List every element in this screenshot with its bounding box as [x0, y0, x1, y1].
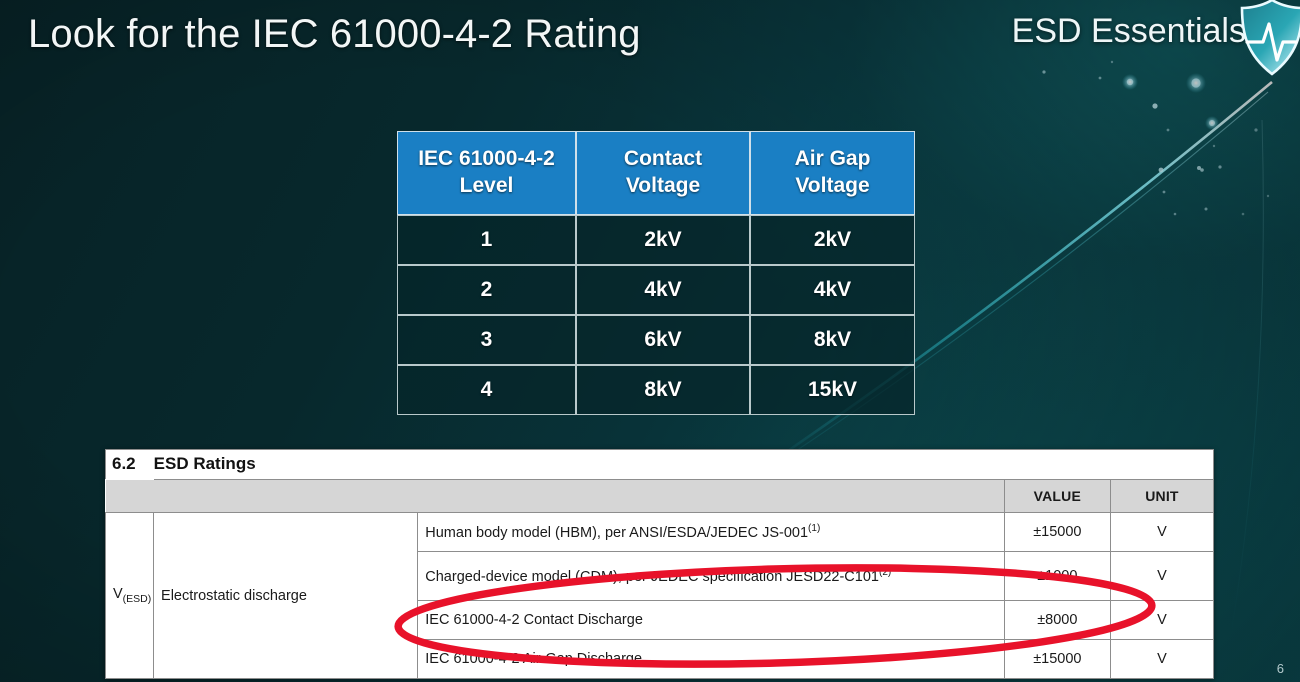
header-line-1: Contact [581, 146, 745, 173]
row-value: ±8000 [1004, 601, 1110, 640]
datasheet-section-title: 6.2 ESD Ratings [105, 449, 1214, 479]
cell-airgap: 4kV [750, 265, 915, 315]
column-header-contact-voltage: Contact Voltage [576, 131, 750, 215]
cell-contact: 2kV [576, 215, 750, 265]
symbol-subscript: (ESD) [123, 593, 152, 605]
symbol-letter: V [113, 586, 123, 602]
brand-label: ESD Essentials [1012, 12, 1246, 51]
row-description: IEC 61000-4-2 Air-Gap Discharge [418, 640, 1005, 679]
page-title: Look for the IEC 61000-4-2 Rating [28, 12, 641, 57]
cell-airgap: 15kV [750, 365, 915, 415]
column-header-air-gap-voltage: Air Gap Voltage [750, 131, 915, 215]
parameter-name: Electrostatic discharge [154, 513, 418, 679]
header-line-1: IEC 61000-4-2 [402, 146, 571, 173]
row-value: ±15000 [1004, 640, 1110, 679]
header-line-2: Voltage [755, 173, 910, 200]
table-row: 2 4kV 4kV [397, 265, 915, 315]
row-description: Human body model (HBM), per ANSI/ESDA/JE… [418, 513, 1005, 552]
row-value: ±1000 [1004, 552, 1110, 601]
column-header-blank-2 [154, 480, 418, 513]
header-line-2: Level [402, 173, 571, 200]
description-text: Human body model (HBM), per ANSI/ESDA/JE… [425, 525, 808, 541]
shield-pulse-icon [1236, 0, 1300, 78]
cell-airgap: 2kV [750, 215, 915, 265]
section-number: 6.2 [112, 454, 136, 474]
row-unit: V [1110, 513, 1213, 552]
header-line-1: Air Gap [755, 146, 910, 173]
row-unit: V [1110, 640, 1213, 679]
row-unit: V [1110, 552, 1213, 601]
cell-contact: 6kV [576, 315, 750, 365]
table-header-row: IEC 61000-4-2 Level Contact Voltage Air … [397, 131, 915, 215]
cell-contact: 4kV [576, 265, 750, 315]
footnote-marker: (1) [808, 523, 820, 534]
column-header-level: IEC 61000-4-2 Level [397, 131, 576, 215]
header-line-2: Voltage [581, 173, 745, 200]
description-text: Charged-device model (CDM), per JEDEC sp… [425, 569, 879, 585]
esd-ratings-table: VALUE UNIT V(ESD) Electrostatic discharg… [105, 479, 1214, 679]
cell-airgap: 8kV [750, 315, 915, 365]
cell-level: 1 [397, 215, 576, 265]
column-header-unit: UNIT [1110, 480, 1213, 513]
row-description: IEC 61000-4-2 Contact Discharge [418, 601, 1005, 640]
table-row: 4 8kV 15kV [397, 365, 915, 415]
row-value: ±15000 [1004, 513, 1110, 552]
column-header-blank-1 [106, 480, 154, 513]
table-row: 1 2kV 2kV [397, 215, 915, 265]
iec-level-table: IEC 61000-4-2 Level Contact Voltage Air … [397, 131, 915, 415]
parameter-symbol: V(ESD) [106, 513, 154, 679]
section-name: ESD Ratings [154, 454, 256, 474]
cell-level: 2 [397, 265, 576, 315]
cell-level: 4 [397, 365, 576, 415]
column-header-value: VALUE [1004, 480, 1110, 513]
cell-contact: 8kV [576, 365, 750, 415]
row-description: Charged-device model (CDM), per JEDEC sp… [418, 552, 1005, 601]
row-unit: V [1110, 601, 1213, 640]
table-row: V(ESD) Electrostatic discharge Human bod… [106, 513, 1214, 552]
table-header-row: VALUE UNIT [106, 480, 1214, 513]
column-header-blank-3 [418, 480, 1005, 513]
page-number: 6 [1277, 661, 1284, 676]
footnote-marker: (2) [879, 567, 891, 578]
table-row: 3 6kV 8kV [397, 315, 915, 365]
datasheet-excerpt: 6.2 ESD Ratings VALUE UNIT V(ESD) Electr… [105, 449, 1214, 679]
cell-level: 3 [397, 315, 576, 365]
